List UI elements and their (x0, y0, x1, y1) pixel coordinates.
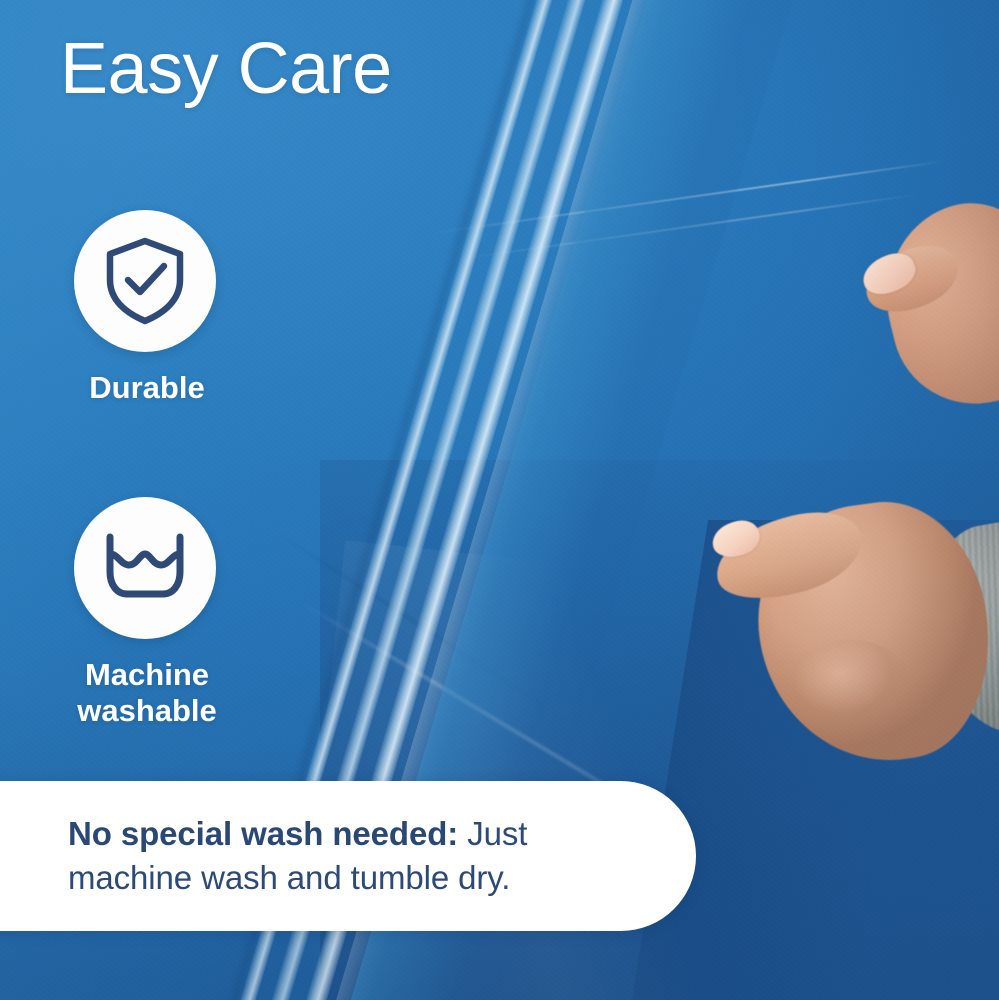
shield-check-icon (74, 210, 216, 352)
page-title: Easy Care (60, 32, 392, 108)
feature-label-machine-washable: Machine washable (0, 657, 290, 730)
feature-label-machine-washable-line1: Machine (85, 657, 209, 692)
feature-label-durable: Durable (0, 370, 290, 407)
shield-check-icon-glyph (102, 236, 188, 326)
feature-item-durable: Durable (0, 210, 290, 407)
hand-lower-right (706, 470, 999, 810)
caption-pill: No special wash needed: Just machine was… (0, 781, 696, 931)
feature-list: Durable Machine washable (0, 210, 300, 730)
feature-item-machine-washable: Machine washable (0, 497, 290, 730)
hand-lower-knuckles (792, 640, 912, 736)
wash-tub-icon (74, 497, 216, 639)
caption-lead: No special wash needed: (68, 815, 458, 852)
easy-care-feature-card: Easy Care Durable Machine washable (0, 0, 999, 1000)
caption-text: No special wash needed: Just machine was… (0, 812, 696, 900)
feature-label-machine-washable-line2: washable (77, 693, 217, 728)
wash-tub-icon-glyph (99, 528, 191, 608)
hand-upper-right (862, 186, 999, 416)
